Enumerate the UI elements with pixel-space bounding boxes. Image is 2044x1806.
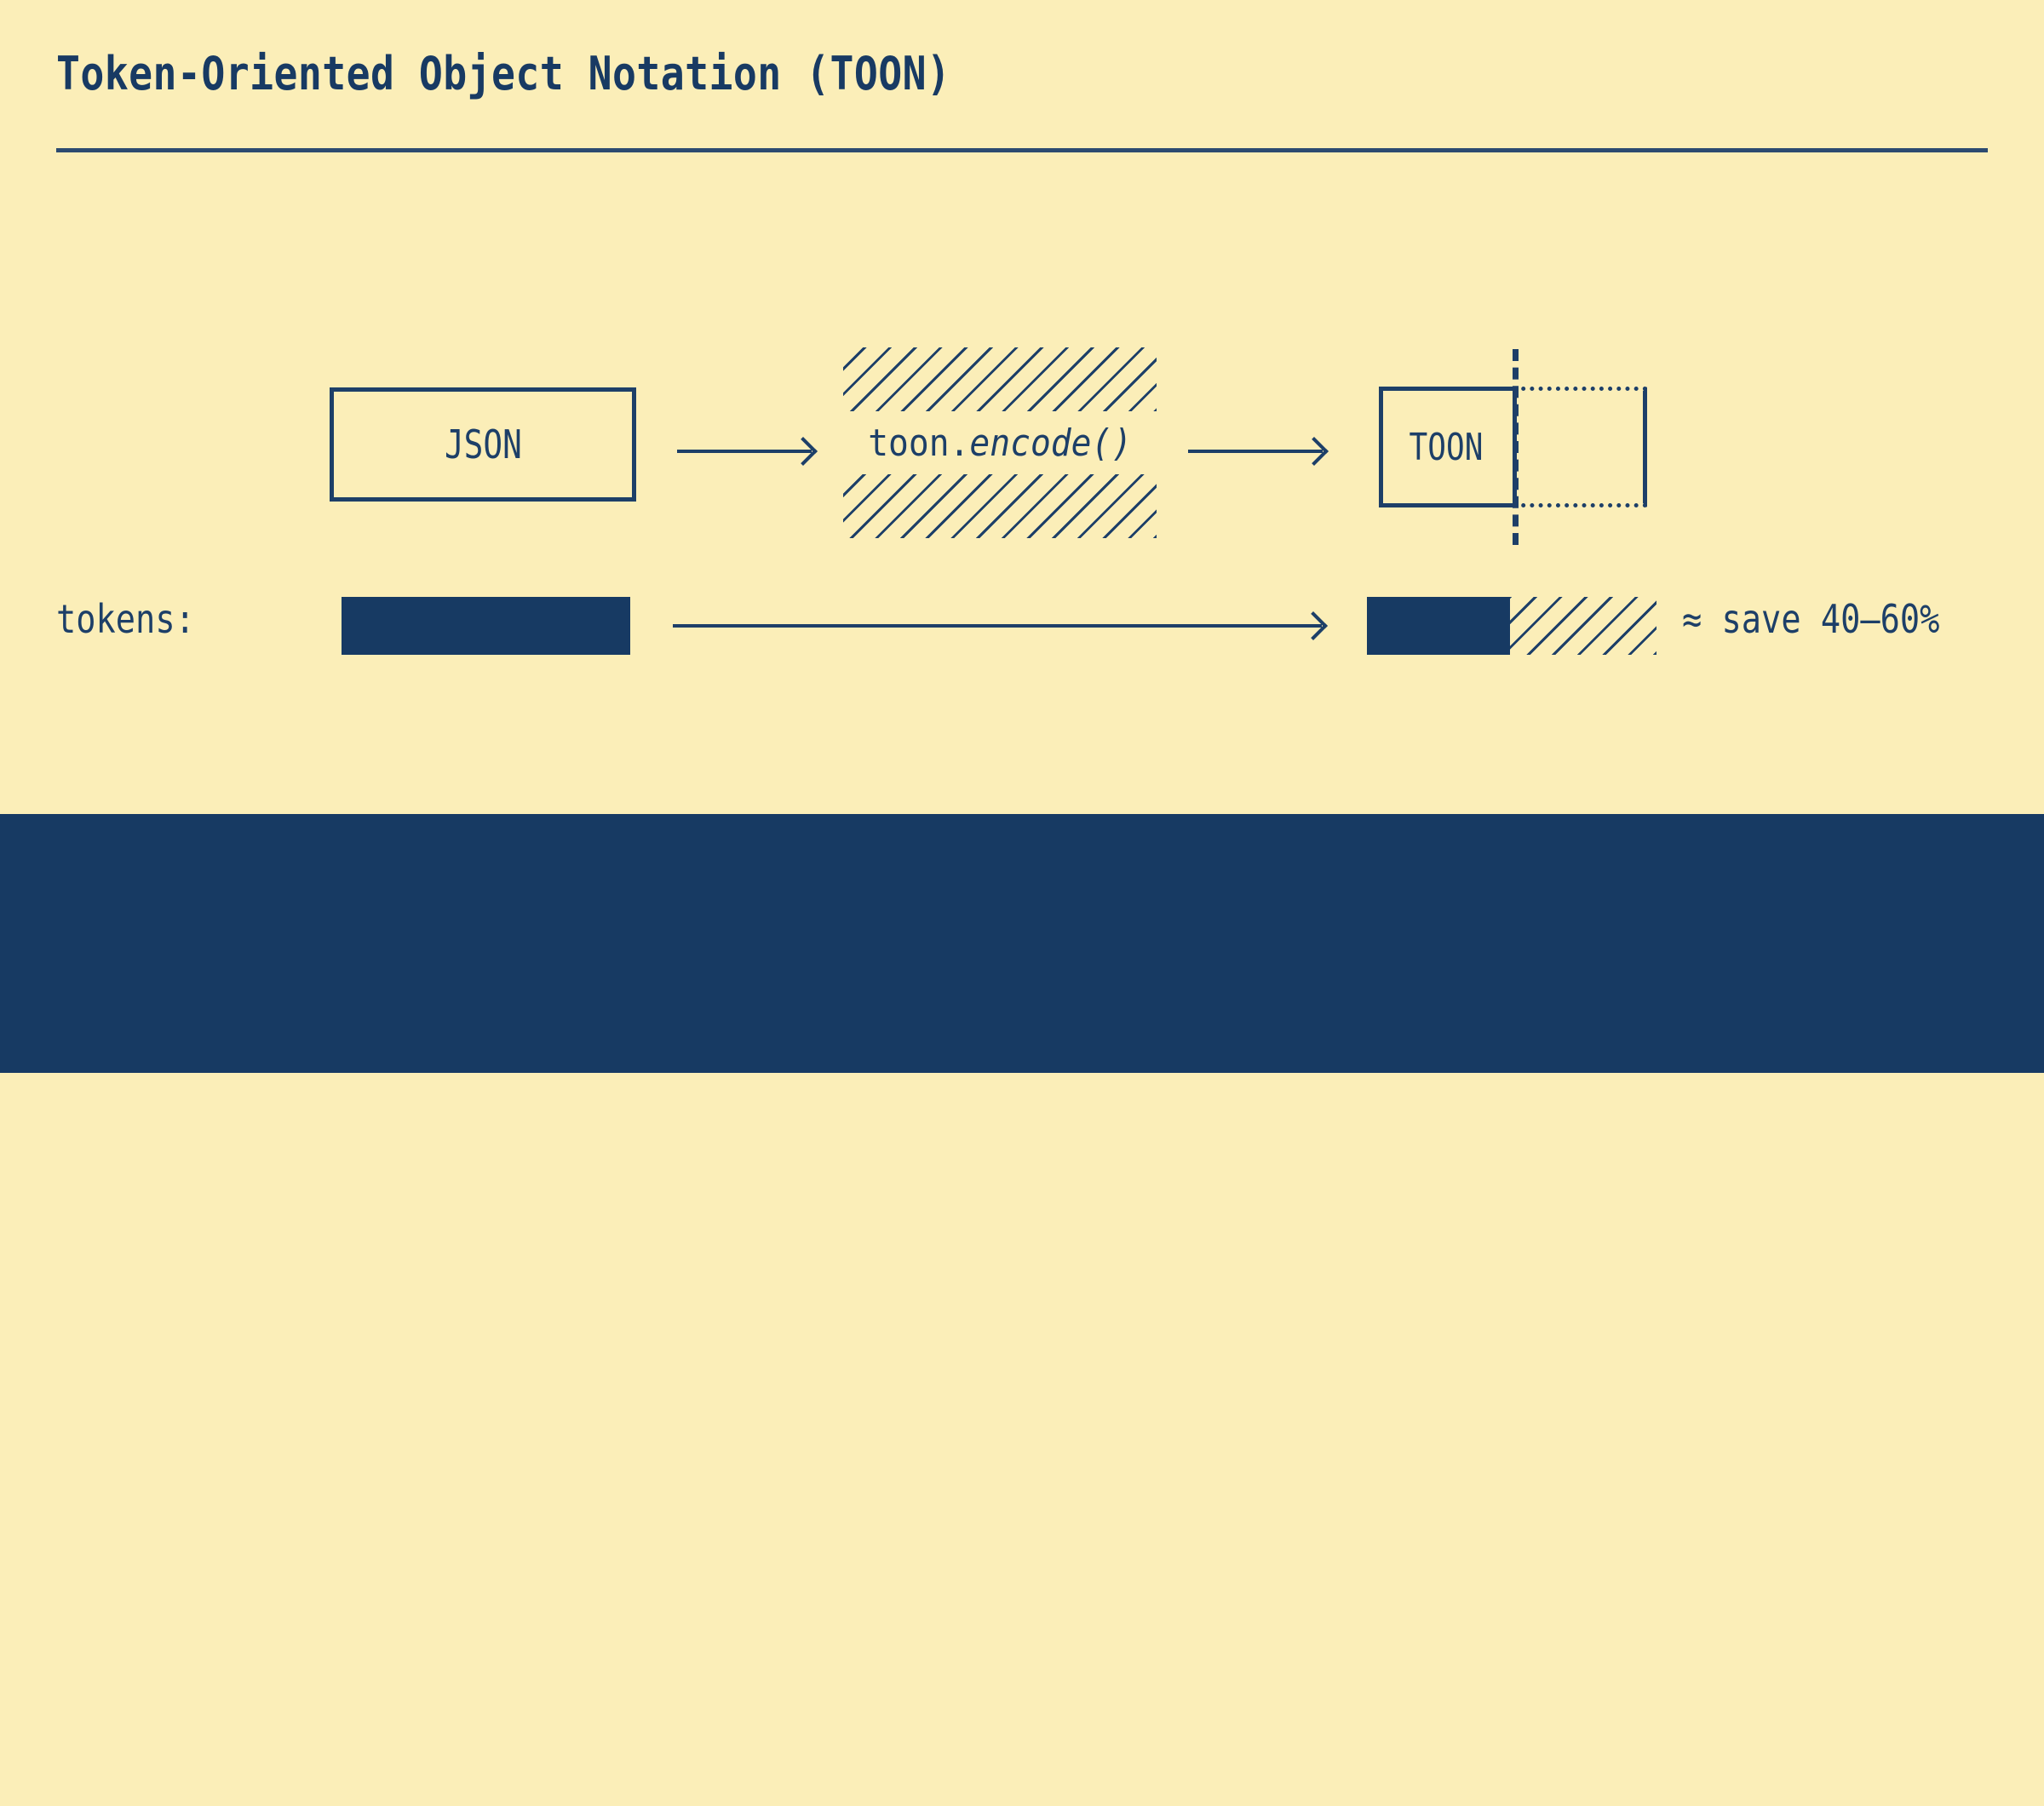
- tokens-comparison-arrow-icon: [673, 624, 1322, 628]
- json-node: JSON: [330, 387, 636, 502]
- encode-namespace-text: toon.: [868, 421, 969, 465]
- sample-line-json-arrow-icon: →: [399, 1691, 433, 1734]
- toon-split-divider-icon: [1513, 349, 1519, 545]
- sample-line-toon-format: TOON: [322, 1763, 399, 1806]
- sample-line-toon-arrow-icon: →: [399, 1763, 433, 1806]
- toon-node-saved-region: [1513, 387, 1647, 507]
- sample-line-toon-code: tags[3]: jazz,chill,lofi: [433, 1763, 899, 1806]
- sample-panel-label: sample:: [56, 1691, 189, 1734]
- tokens-bar-json: [342, 597, 630, 655]
- toon-node-label: TOON: [1410, 426, 1484, 469]
- json-node-label: JSON: [445, 421, 522, 467]
- encode-label-strip: toon.encode(): [843, 411, 1157, 474]
- sample-line-json-code: { "tags": ["jazz", "chill", "lofi"] }: [433, 1691, 1151, 1734]
- encode-process-node: toon.encode(): [843, 347, 1157, 538]
- sample-line-toon: TOON→tags[3]: jazz,chill,lofi: [322, 1763, 899, 1806]
- tokens-savings-note: ≈ save 40–60%: [1682, 596, 1939, 642]
- tokens-bar-saved-hatch: [1510, 597, 1656, 655]
- sample-panel: sample: JSON→{ "tags": ["jazz", "chill",…: [0, 814, 2044, 1073]
- tokens-bar-toon: [1367, 597, 1510, 655]
- sample-line-json: JSON→{ "tags": ["jazz", "chill", "lofi"]…: [322, 1691, 1151, 1734]
- flow-arrow-json-to-encode-icon: [677, 450, 812, 453]
- encode-function-label: toon.encode(): [868, 421, 1132, 465]
- tokens-row-label: tokens:: [56, 596, 195, 642]
- toon-node: TOON: [1379, 387, 1517, 507]
- flow-arrow-encode-to-toon-icon: [1188, 450, 1323, 453]
- sample-line-json-format: JSON: [322, 1691, 399, 1734]
- encode-method-text: encode(): [969, 421, 1132, 465]
